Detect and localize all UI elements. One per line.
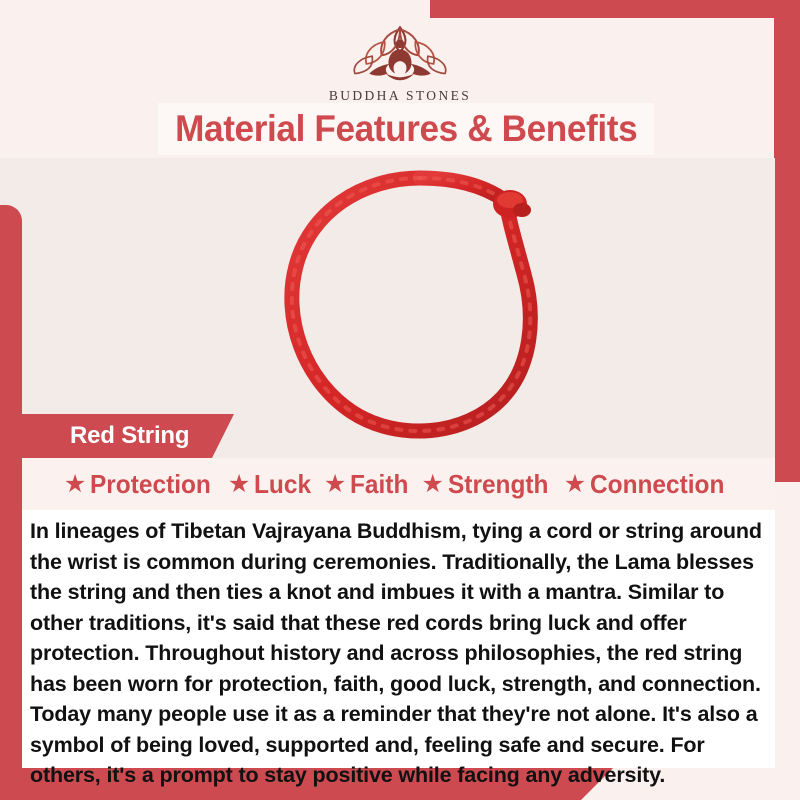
page-title-text: Material Features & Benefits	[175, 108, 637, 150]
star-icon: ★	[228, 472, 250, 497]
description-text: In lineages of Tibetan Vajrayana Buddhis…	[22, 510, 775, 791]
star-icon: ★	[64, 472, 86, 497]
feature-item-strength: ★ Strength	[421, 469, 554, 500]
decor-left-bar	[0, 205, 22, 782]
star-icon: ★	[564, 472, 586, 497]
star-icon: ★	[324, 472, 346, 497]
feature-label: Protection	[90, 469, 211, 500]
brand-name: BUDDHA STONES	[0, 88, 800, 104]
feature-label: Faith	[350, 469, 408, 500]
brand-logo: BUDDHA STONES	[0, 14, 800, 104]
red-string-bracelet-image	[270, 166, 570, 446]
product-label-ribbon: Red String	[22, 414, 234, 458]
description-block: In lineages of Tibetan Vajrayana Buddhis…	[22, 510, 775, 768]
feature-item-connection: ★ Connection	[564, 469, 733, 500]
feature-label: Strength	[448, 469, 548, 500]
feature-label: Connection	[590, 469, 724, 500]
star-icon: ★	[421, 472, 443, 497]
page-title: Material Features & Benefits	[158, 103, 654, 155]
feature-label: Luck	[254, 469, 311, 500]
infographic-page: BUDDHA STONES Material Features & Benefi…	[0, 0, 800, 800]
feature-list: ★ Protection ★ Luck ★ Faith ★ Strength ★…	[22, 458, 775, 510]
feature-item-protection: ★ Protection	[64, 469, 219, 500]
lotus-meditation-icon	[325, 14, 475, 86]
feature-item-faith: ★ Faith	[324, 469, 413, 500]
feature-item-luck: ★ Luck	[228, 469, 315, 500]
product-label-text: Red String	[70, 422, 189, 450]
bracelet-knot	[493, 190, 531, 218]
